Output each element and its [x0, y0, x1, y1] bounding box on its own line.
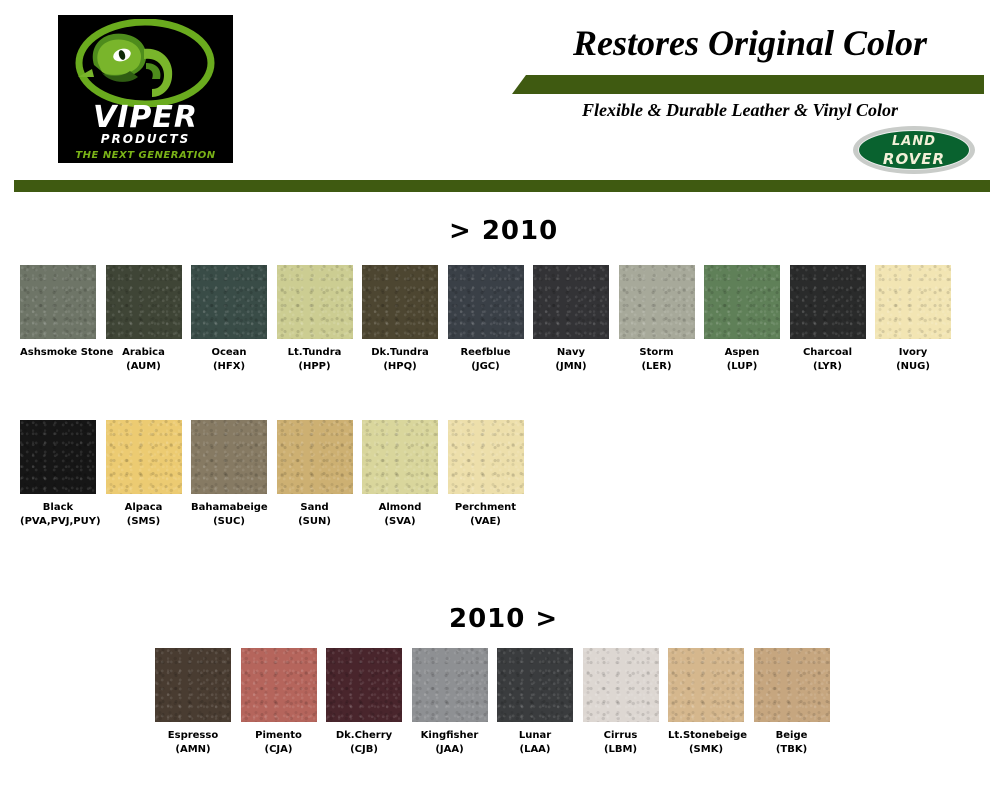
- color-swatch-cell[interactable]: Beige(TBK): [754, 648, 830, 757]
- leather-grain-texture: [20, 265, 96, 339]
- swatch-color-code: (AUM): [106, 360, 182, 374]
- swatch-color-name: Beige: [754, 729, 830, 743]
- color-swatch-cell[interactable]: Ivory(NUG): [875, 265, 951, 374]
- swatch-label: Lt.Tundra(HPP): [277, 346, 353, 374]
- color-swatch[interactable]: [191, 265, 267, 339]
- swatch-label: Navy(JMN): [533, 346, 609, 374]
- leather-grain-texture: [191, 265, 267, 339]
- leather-grain-texture: [106, 265, 182, 339]
- color-swatch[interactable]: [583, 648, 659, 722]
- color-swatch-cell[interactable]: Espresso(AMN): [155, 648, 231, 757]
- color-swatch-cell[interactable]: Aspen(LUP): [704, 265, 780, 374]
- leather-grain-texture: [533, 265, 609, 339]
- swatch-color-name: Black: [20, 501, 96, 515]
- page-subtitle: Flexible & Durable Leather & Vinyl Color: [520, 100, 960, 121]
- leather-grain-texture: [790, 265, 866, 339]
- color-swatch[interactable]: [668, 648, 744, 722]
- leather-grain-texture: [20, 420, 96, 494]
- swatch-color-name: Arabica: [106, 346, 182, 360]
- color-swatch-cell[interactable]: Lt.Stonebeige(SMK): [668, 648, 744, 757]
- color-swatch[interactable]: [106, 265, 182, 339]
- color-swatch-cell[interactable]: Ocean(HFX): [191, 265, 267, 374]
- swatch-color-name: Lt.Tundra: [277, 346, 353, 360]
- swatch-label: Dk.Tundra(HPQ): [362, 346, 438, 374]
- swatch-label: Storm(LER): [619, 346, 695, 374]
- swatch-color-code: (HPP): [277, 360, 353, 374]
- swatch-label: Alpaca(SMS): [106, 501, 182, 529]
- swatch-label: Sand(SUN): [277, 501, 353, 529]
- logo-tagline: THE NEXT GENERATION: [58, 150, 233, 161]
- swatch-label: Pimento(CJA): [241, 729, 317, 757]
- color-swatch[interactable]: [412, 648, 488, 722]
- color-swatch-cell[interactable]: Cirrus(LBM): [583, 648, 659, 757]
- swatch-label: Bahamabeige(SUC): [191, 501, 267, 529]
- color-swatch[interactable]: [533, 265, 609, 339]
- swatch-label: Black(PVA,PVJ,PUY): [20, 501, 96, 529]
- leather-grain-texture: [704, 265, 780, 339]
- color-swatch[interactable]: [704, 265, 780, 339]
- swatch-color-name: Espresso: [155, 729, 231, 743]
- color-swatch-cell[interactable]: Reefblue(JGC): [448, 265, 524, 374]
- color-swatch[interactable]: [106, 420, 182, 494]
- color-swatch[interactable]: [241, 648, 317, 722]
- swatch-label: Aspen(LUP): [704, 346, 780, 374]
- logo-sub-wordmark: PRODUCTS: [58, 132, 233, 146]
- leather-grain-texture: [754, 648, 830, 722]
- swatch-color-code: (JMN): [533, 360, 609, 374]
- swatch-color-code: (JGC): [448, 360, 524, 374]
- swatch-label: Ocean(HFX): [191, 346, 267, 374]
- section-title-post-2010: 2010 >: [449, 604, 558, 634]
- swatch-color-code: (LAA): [497, 743, 573, 757]
- leather-grain-texture: [583, 648, 659, 722]
- viper-snake-icon: [58, 19, 233, 107]
- badge-line-1: LAND: [853, 134, 975, 149]
- swatch-label: Kingfisher(JAA): [412, 729, 488, 757]
- swatch-color-code: (HFX): [191, 360, 267, 374]
- swatch-color-code: (SUC): [191, 515, 267, 529]
- color-swatch-cell[interactable]: Bahamabeige(SUC): [191, 420, 267, 529]
- color-swatch[interactable]: [326, 648, 402, 722]
- swatch-label: Lunar(LAA): [497, 729, 573, 757]
- swatch-color-name: Ashsmoke Stone: [20, 346, 96, 360]
- swatch-label: Charcoal(LYR): [790, 346, 866, 374]
- swatch-label: Arabica(AUM): [106, 346, 182, 374]
- color-swatch-cell[interactable]: Almond(SVA): [362, 420, 438, 529]
- swatch-label: Ashsmoke Stone: [20, 346, 96, 360]
- swatch-color-name: Dk.Tundra: [362, 346, 438, 360]
- color-swatch-cell[interactable]: Ashsmoke Stone: [20, 265, 96, 360]
- color-swatch-cell[interactable]: Kingfisher(JAA): [412, 648, 488, 757]
- page-title: Restores Original Color: [520, 22, 980, 64]
- color-swatch-cell[interactable]: Navy(JMN): [533, 265, 609, 374]
- color-swatch[interactable]: [619, 265, 695, 339]
- swatch-color-code: (SMK): [668, 743, 744, 757]
- swatch-color-code: (TBK): [754, 743, 830, 757]
- swatch-color-name: Lt.Stonebeige: [668, 729, 744, 743]
- color-swatch[interactable]: [20, 420, 96, 494]
- swatch-color-name: Kingfisher: [412, 729, 488, 743]
- swatch-label: Ivory(NUG): [875, 346, 951, 374]
- swatch-color-name: Sand: [277, 501, 353, 515]
- swatch-color-code: (LYR): [790, 360, 866, 374]
- swatch-color-name: Ocean: [191, 346, 267, 360]
- swatch-color-name: Almond: [362, 501, 438, 515]
- swatch-color-name: Cirrus: [583, 729, 659, 743]
- color-swatch[interactable]: [875, 265, 951, 339]
- leather-grain-texture: [277, 420, 353, 494]
- swatch-color-code: (SUN): [277, 515, 353, 529]
- swatch-color-code: (JAA): [412, 743, 488, 757]
- swatch-label: Beige(TBK): [754, 729, 830, 757]
- swatch-label: Cirrus(LBM): [583, 729, 659, 757]
- color-swatch-cell[interactable]: Sand(SUN): [277, 420, 353, 529]
- color-swatch-cell[interactable]: Dk.Cherry(CJB): [326, 648, 402, 757]
- swatch-color-name: Perchment: [448, 501, 524, 515]
- leather-grain-texture: [448, 420, 524, 494]
- color-swatch-cell[interactable]: Lt.Tundra(HPP): [277, 265, 353, 374]
- color-swatch[interactable]: [754, 648, 830, 722]
- color-swatch[interactable]: [155, 648, 231, 722]
- swatch-color-code: (AMN): [155, 743, 231, 757]
- leather-grain-texture: [497, 648, 573, 722]
- color-swatch-cell[interactable]: Arabica(AUM): [106, 265, 182, 374]
- leather-grain-texture: [619, 265, 695, 339]
- swatch-color-name: Charcoal: [790, 346, 866, 360]
- header-divider-bar: [14, 180, 990, 192]
- leather-grain-texture: [362, 420, 438, 494]
- leather-grain-texture: [326, 648, 402, 722]
- land-rover-badge: LAND ROVER: [853, 126, 975, 174]
- swatch-label: Reefblue(JGC): [448, 346, 524, 374]
- page-header: VIPER PRODUCTS THE NEXT GENERATION Resto…: [0, 0, 1000, 180]
- color-swatch-cell[interactable]: Charcoal(LYR): [790, 265, 866, 374]
- color-swatch[interactable]: [497, 648, 573, 722]
- badge-line-2: ROVER: [853, 150, 975, 168]
- color-swatch[interactable]: [790, 265, 866, 339]
- swatch-color-name: Storm: [619, 346, 695, 360]
- color-swatch[interactable]: [362, 420, 438, 494]
- swatch-label: Almond(SVA): [362, 501, 438, 529]
- swatch-color-code: (VAE): [448, 515, 524, 529]
- swatch-color-name: Ivory: [875, 346, 951, 360]
- color-swatch[interactable]: [448, 420, 524, 494]
- swatch-label: Lt.Stonebeige(SMK): [668, 729, 744, 757]
- color-swatch[interactable]: [277, 265, 353, 339]
- swatch-color-code: (CJB): [326, 743, 402, 757]
- viper-products-logo: VIPER PRODUCTS THE NEXT GENERATION: [58, 15, 233, 163]
- section-title-pre-2010: > 2010: [449, 216, 558, 246]
- swatch-color-code: (CJA): [241, 743, 317, 757]
- leather-grain-texture: [875, 265, 951, 339]
- swatch-color-code: (LER): [619, 360, 695, 374]
- color-swatch-cell[interactable]: Pimento(CJA): [241, 648, 317, 757]
- leather-grain-texture: [191, 420, 267, 494]
- color-swatch[interactable]: [362, 265, 438, 339]
- leather-grain-texture: [668, 648, 744, 722]
- swatch-label: Dk.Cherry(CJB): [326, 729, 402, 757]
- swatch-color-name: Bahamabeige: [191, 501, 267, 515]
- swatch-color-name: Alpaca: [106, 501, 182, 515]
- color-swatch-cell[interactable]: Alpaca(SMS): [106, 420, 182, 529]
- swatch-color-code: (LUP): [704, 360, 780, 374]
- color-swatch[interactable]: [277, 420, 353, 494]
- swatch-color-code: (LBM): [583, 743, 659, 757]
- color-swatch-cell[interactable]: Perchment(VAE): [448, 420, 524, 529]
- swatch-label: Perchment(VAE): [448, 501, 524, 529]
- swatch-color-name: Dk.Cherry: [326, 729, 402, 743]
- swatch-color-name: Navy: [533, 346, 609, 360]
- leather-grain-texture: [106, 420, 182, 494]
- swatch-color-code: (SVA): [362, 515, 438, 529]
- leather-grain-texture: [362, 265, 438, 339]
- color-swatch[interactable]: [20, 265, 96, 339]
- color-swatch[interactable]: [191, 420, 267, 494]
- swatch-color-code: (HPQ): [362, 360, 438, 374]
- color-swatch-cell[interactable]: Storm(LER): [619, 265, 695, 374]
- leather-grain-texture: [412, 648, 488, 722]
- color-swatch-cell[interactable]: Lunar(LAA): [497, 648, 573, 757]
- logo-wordmark: VIPER: [58, 103, 233, 133]
- swatch-color-code: (PVA,PVJ,PUY): [20, 515, 96, 529]
- swatch-color-name: Lunar: [497, 729, 573, 743]
- leather-grain-texture: [155, 648, 231, 722]
- swatch-color-name: Aspen: [704, 346, 780, 360]
- swatch-label: Espresso(AMN): [155, 729, 231, 757]
- swatch-color-code: (SMS): [106, 515, 182, 529]
- color-swatch[interactable]: [448, 265, 524, 339]
- leather-grain-texture: [241, 648, 317, 722]
- swatch-color-name: Pimento: [241, 729, 317, 743]
- color-swatch-cell[interactable]: Black(PVA,PVJ,PUY): [20, 420, 96, 529]
- color-swatch-cell[interactable]: Dk.Tundra(HPQ): [362, 265, 438, 374]
- swatch-color-name: Reefblue: [448, 346, 524, 360]
- header-accent-bar: [512, 75, 984, 94]
- leather-grain-texture: [277, 265, 353, 339]
- swatch-color-code: (NUG): [875, 360, 951, 374]
- leather-grain-texture: [448, 265, 524, 339]
